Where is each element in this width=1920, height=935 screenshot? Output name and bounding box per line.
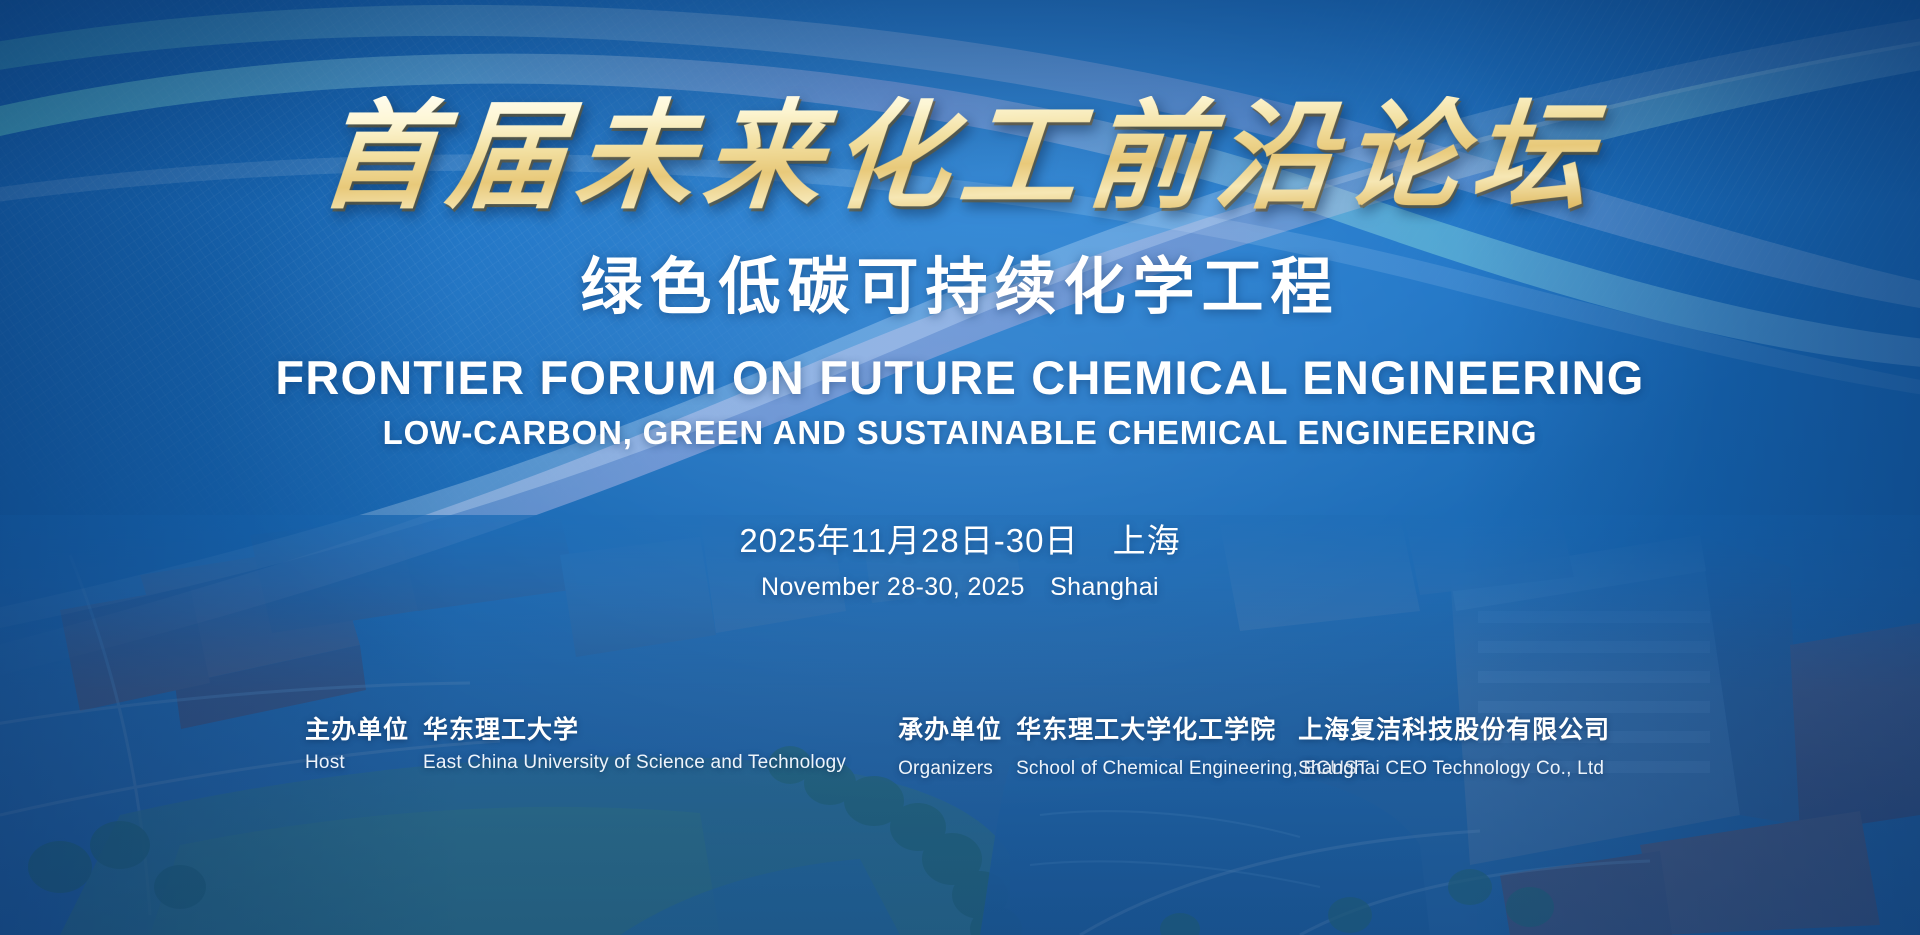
main-title-chinese: 首届未来化工前沿论坛	[303, 96, 1618, 216]
host-row-chinese: 主办单位 华东理工大学	[305, 710, 846, 746]
host-row-english: Host East China University of Science an…	[305, 752, 846, 774]
event-date-chinese-text: 2025年11月28日-30日	[739, 522, 1078, 559]
organizer-2-name-chinese: 上海复洁科技股份有限公司	[1298, 710, 1610, 746]
banner-content: 首届未来化工前沿论坛 绿色低碳可持续化学工程 FRONTIER FORUM ON…	[0, 0, 1920, 935]
event-date-chinese: 2025年11月28日-30日 上海	[739, 514, 1180, 562]
host-name-chinese: 华东理工大学	[423, 710, 579, 746]
event-date-english-text: November 28-30, 2025	[761, 573, 1025, 601]
host-label-english: Host	[305, 752, 423, 774]
main-title-english: FRONTIER FORUM ON FUTURE CHEMICAL ENGINE…	[275, 350, 1644, 405]
conference-banner: 首届未来化工前沿论坛 绿色低碳可持续化学工程 FRONTIER FORUM ON…	[0, 0, 1920, 935]
host-name-english: East China University of Science and Tec…	[423, 752, 846, 774]
organizers-label-english: Organizers	[898, 758, 1016, 780]
event-city-english: Shanghai	[1050, 573, 1159, 601]
host-group: 主办单位 华东理工大学 Host East China University o…	[305, 710, 846, 780]
event-city-chinese: 上海	[1113, 522, 1181, 559]
subtitle-english: LOW-CARBON, GREEN AND SUSTAINABLE CHEMIC…	[383, 414, 1538, 452]
host-label-chinese: 主办单位	[305, 710, 423, 746]
organizers-label-chinese: 承办单位	[898, 710, 1016, 746]
organizer-1-name-chinese: 华东理工大学化工学院	[1016, 710, 1298, 746]
organizers-names-chinese: 华东理工大学化工学院 上海复洁科技股份有限公司	[1016, 710, 1610, 746]
subtitle-chinese: 绿色低碳可持续化学工程	[580, 236, 1339, 326]
organizers-row-chinese: 承办单位 华东理工大学化工学院 上海复洁科技股份有限公司	[898, 710, 1610, 746]
organizer-2-name-english: Shanghai CEO Technology Co., Ltd	[1298, 758, 1604, 780]
organizers-names-english: School of Chemical Engineering, ECUST Sh…	[1016, 758, 1604, 780]
credits-section: 主办单位 华东理工大学 Host East China University o…	[0, 710, 1920, 780]
organizers-row-english: Organizers School of Chemical Engineerin…	[898, 752, 1610, 780]
event-date-english: November 28-30, 2025 Shanghai	[761, 573, 1159, 602]
organizers-group: 承办单位 华东理工大学化工学院 上海复洁科技股份有限公司 Organizers …	[898, 710, 1610, 780]
organizer-1-name-english: School of Chemical Engineering, ECUST	[1016, 758, 1298, 780]
